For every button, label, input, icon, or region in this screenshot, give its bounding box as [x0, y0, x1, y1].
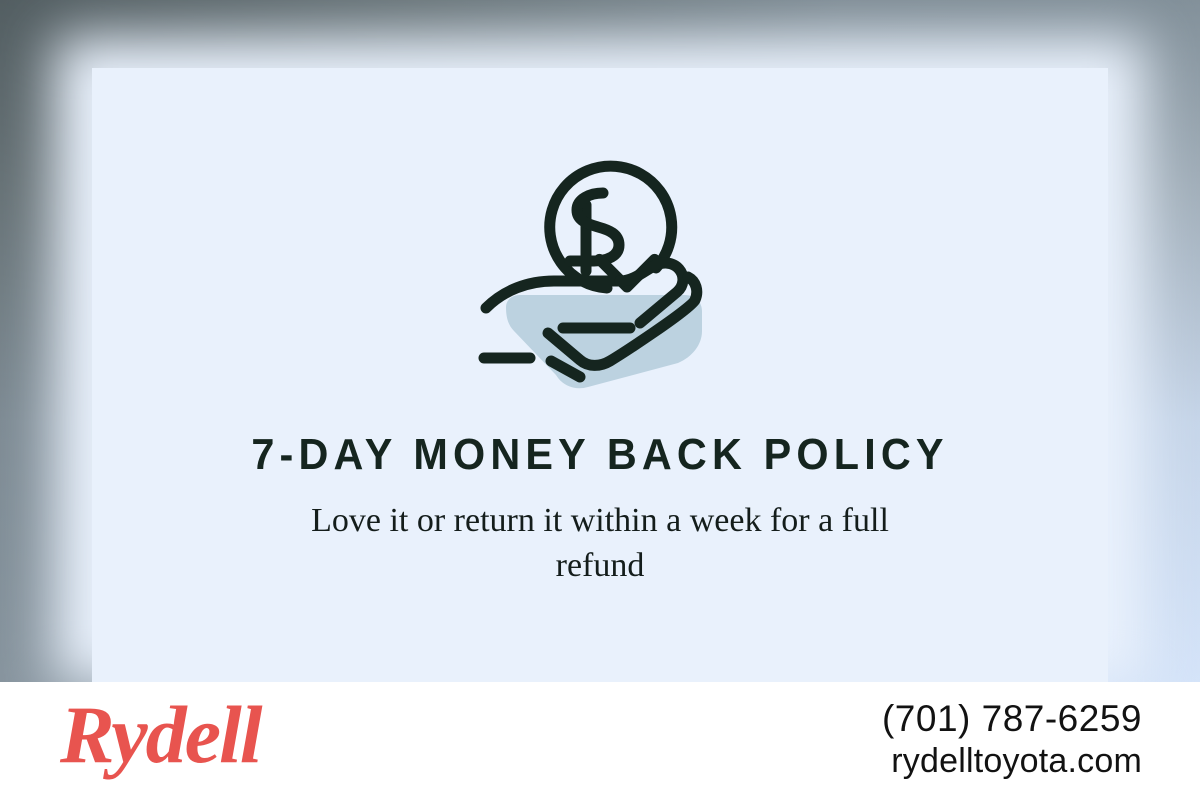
subtitle-line-1: Love it or return it within a week for a… — [250, 498, 950, 543]
phone-number[interactable]: (701) 787-6259 — [882, 698, 1142, 741]
money-back-hand-icon — [0, 150, 1200, 400]
website-url[interactable]: rydelltoyota.com — [882, 741, 1142, 782]
subtitle: Love it or return it within a week for a… — [0, 498, 1200, 588]
subtitle-line-2: refund — [250, 543, 950, 588]
page-title: 7-DAY MONEY BACK POLICY — [36, 430, 1164, 480]
promo-card: 7-DAY MONEY BACK POLICY Love it or retur… — [0, 0, 1200, 800]
contact-info: (701) 787-6259 rydelltoyota.com — [882, 698, 1142, 781]
rydell-logo: Rydell — [60, 694, 261, 776]
hand-shadow-icon — [506, 295, 702, 388]
